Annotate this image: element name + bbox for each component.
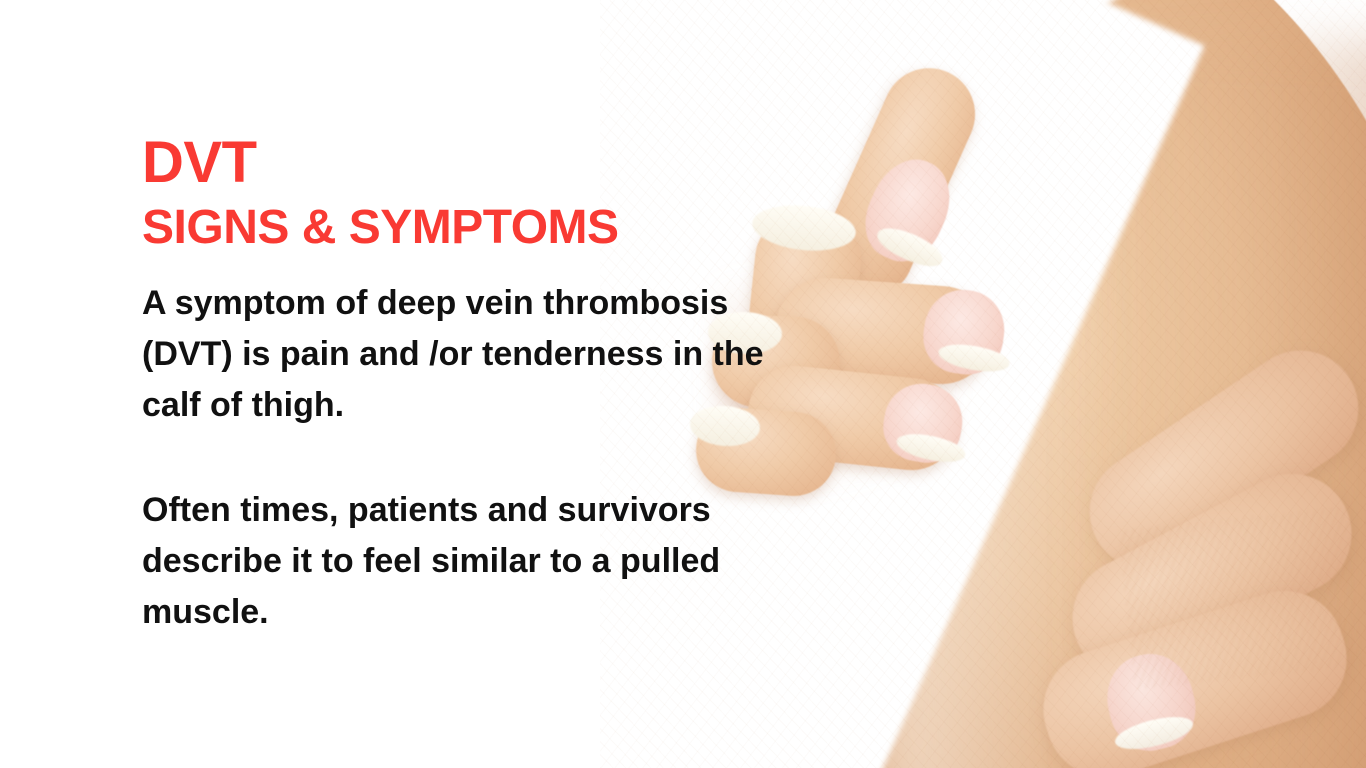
text-column: DVT SIGNS & SYMPTOMS A symptom of deep v… [142, 134, 842, 638]
paragraph-two: Often times, patients and survivors desc… [142, 485, 822, 638]
dvt-signs-and-symptoms-slide: DVT SIGNS & SYMPTOMS A symptom of deep v… [0, 0, 1366, 768]
page-subtitle: SIGNS & SYMPTOMS [142, 204, 842, 252]
page-title: DVT [142, 134, 842, 192]
lower-hand [1056, 368, 1366, 768]
paragraph-one: A symptom of deep vein thrombosis (DVT) … [142, 278, 792, 431]
